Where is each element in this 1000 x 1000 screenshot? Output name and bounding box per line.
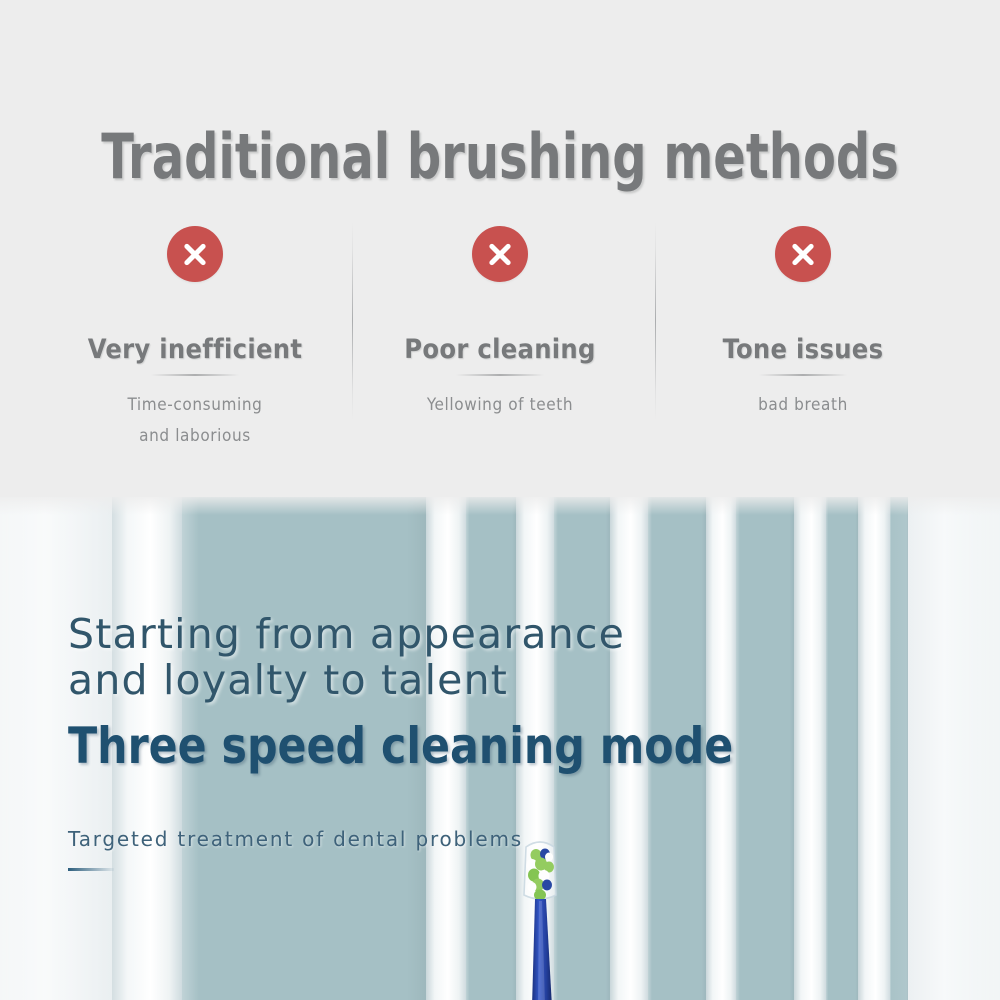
drawbacks-columns: Very inefficient Time-consuming and labo… [0,210,1000,460]
background-stripe [908,497,1000,1000]
heading-underline [151,374,239,376]
drawback-description: Time-consuming and laborious [45,390,345,453]
hero-line-1: Starting from appearance [68,612,768,658]
product-detail-page: Traditional brushing methods Very ineffi… [0,0,1000,1000]
tagline-underline [68,868,114,871]
red-circle-x-icon [775,226,831,282]
red-circle-x-icon [472,226,528,282]
traditional-methods-section: Traditional brushing methods Very ineffi… [0,0,1000,497]
drawback-column-poor-cleaning: Poor cleaning Yellowing of teeth [350,210,650,421]
drawback-description: Yellowing of teeth [350,390,650,421]
drawback-description: bad breath [653,390,953,421]
drawback-heading: Very inefficient [45,334,345,365]
drawback-heading: Poor cleaning [350,334,650,365]
hero-copy: Starting from appearance and loyalty to … [68,612,768,775]
drawback-heading: Tone issues [653,334,953,365]
background-stripe [858,497,890,1000]
red-circle-x-icon [167,226,223,282]
drawback-description-line-1: Yellowing of teeth [350,390,650,421]
background-stripe [890,497,908,1000]
drawback-column-very-inefficient: Very inefficient Time-consuming and labo… [45,210,345,453]
page-title: Traditional brushing methods [70,126,930,188]
drawback-description-line-2: and laborious [45,421,345,452]
heading-underline [759,374,847,376]
background-stripe [794,497,826,1000]
drawback-description-line-1: bad breath [653,390,953,421]
drawback-column-tone-issues: Tone issues bad breath [653,210,953,421]
hero-tagline: Targeted treatment of dental problems [68,827,523,851]
background-stripe [826,497,858,1000]
drawback-description-line-1: Time-consuming [45,390,345,421]
hero-line-2: and loyalty to talent [68,658,768,704]
hero-headline: Three speed cleaning mode [68,718,733,776]
three-speed-mode-section: Starting from appearance and loyalty to … [0,497,1000,1000]
heading-underline [456,374,544,376]
